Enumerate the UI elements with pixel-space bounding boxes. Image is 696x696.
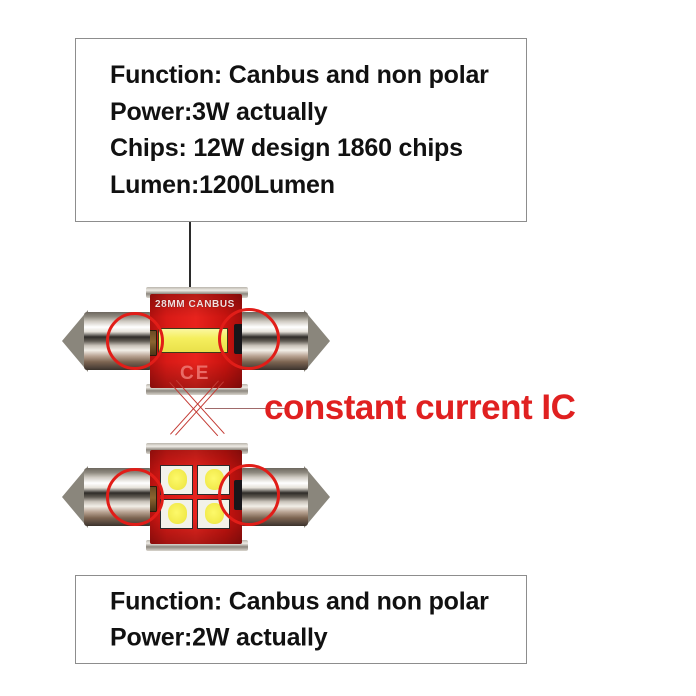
highlight-circle-lower-left: [106, 468, 164, 526]
led-bulb-lower: [62, 448, 330, 546]
product-infographic: Function: Canbus and non polar Power:3W …: [0, 0, 696, 696]
spec-box-bottom: Function: Canbus and non polar Power:2W …: [75, 575, 527, 664]
spec-box-top-lines: Function: Canbus and non polar Power:3W …: [110, 57, 514, 203]
constant-current-ic-label: constant current IC: [264, 388, 575, 428]
highlight-circle-upper-right: [218, 308, 280, 370]
spec-line-power: Power:2W actually: [110, 620, 514, 657]
led-chip: [160, 465, 193, 495]
spec-box-top: Function: Canbus and non polar Power:3W …: [75, 38, 527, 222]
spec-line-lumen: Lumen:1200Lumen: [110, 167, 514, 204]
spec-line-function: Function: Canbus and non polar: [110, 57, 514, 94]
highlight-circle-upper-left: [106, 312, 164, 370]
spec-line-function: Function: Canbus and non polar: [110, 583, 514, 620]
ce-mark-label: CE: [180, 363, 210, 385]
spec-line-chips: Chips: 12W design 1860 chips: [110, 130, 514, 167]
spec-line-power: Power:3W actually: [110, 94, 514, 131]
led-chip: [160, 499, 193, 529]
led-bulb-upper: 28MM CANBUS CE: [62, 292, 330, 390]
highlight-circle-lower-right: [218, 464, 280, 526]
spec-box-bottom-lines: Function: Canbus and non polar Power:2W …: [110, 583, 514, 656]
pcb-label-text: 28MM CANBUS: [155, 299, 235, 310]
